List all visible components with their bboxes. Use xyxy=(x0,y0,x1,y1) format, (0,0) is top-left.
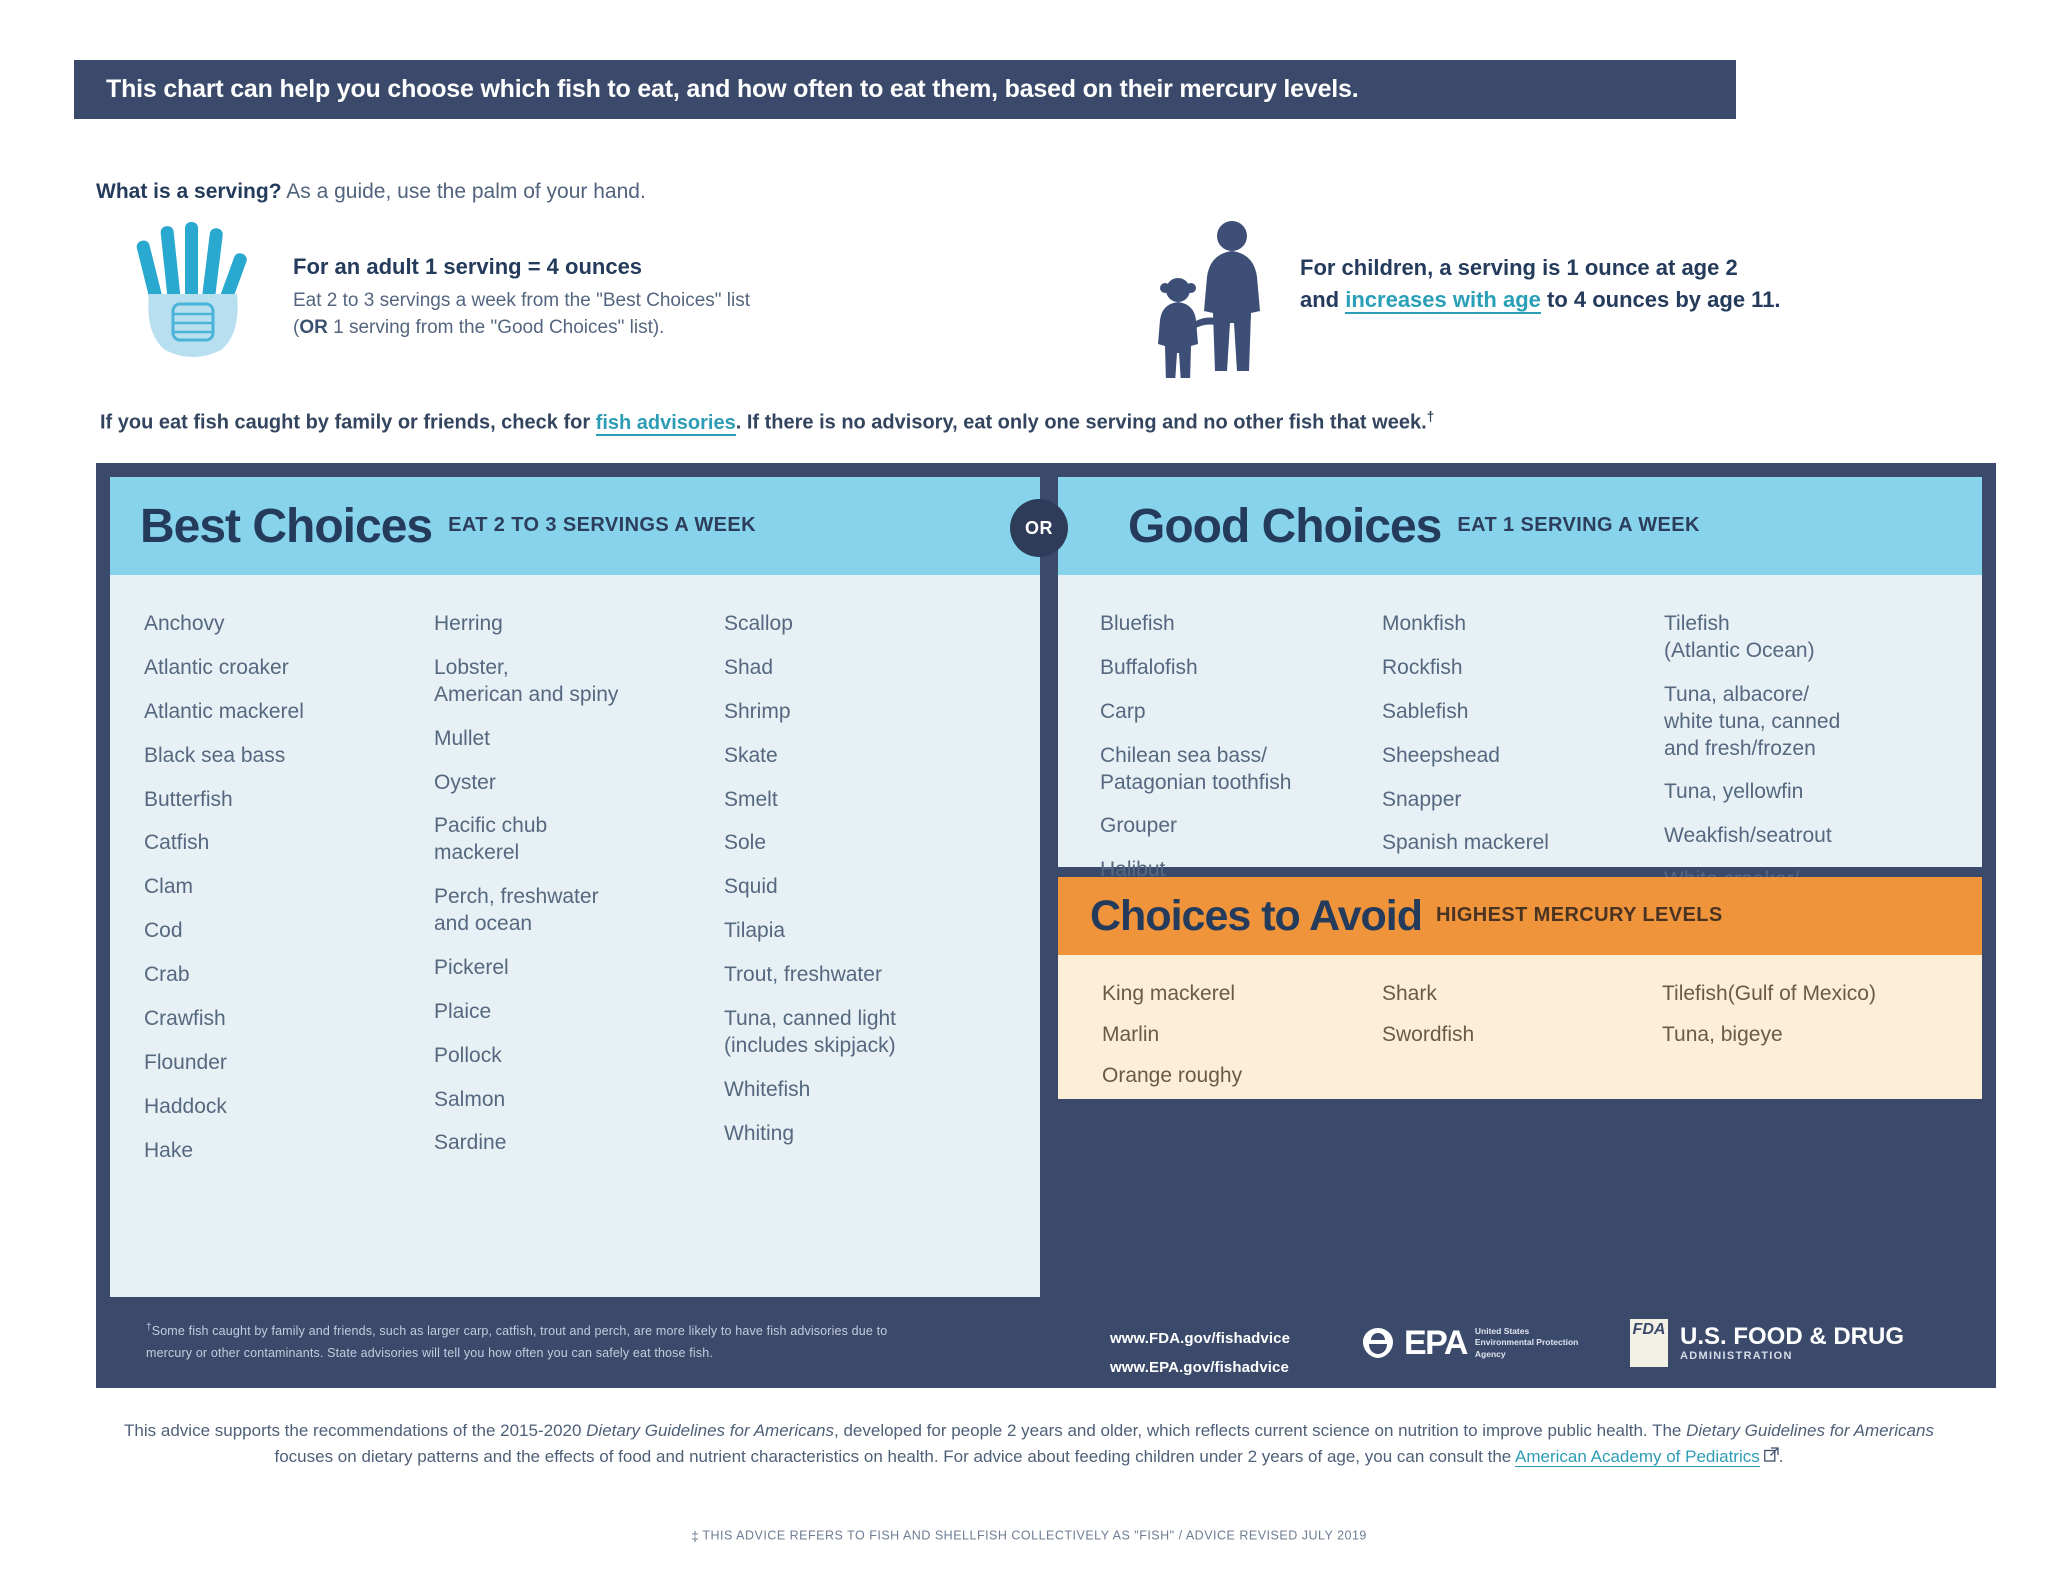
list-item: Oyster xyxy=(434,770,724,797)
footer-part-3: focuses on dietary patterns and the effe… xyxy=(275,1447,1516,1466)
best-choices-column-1: Anchovy Atlantic croaker Atlantic macker… xyxy=(144,611,434,1181)
list-item: Atlantic mackerel xyxy=(144,699,434,726)
choices-to-avoid-subtitle: HIGHEST MERCURY LEVELS xyxy=(1436,904,1723,929)
list-item: Squid xyxy=(724,874,1014,901)
list-item: King mackerel xyxy=(1102,981,1382,1008)
list-item: Trout, freshwater xyxy=(724,962,1014,989)
list-item: Lobster,American and spiny xyxy=(434,655,724,709)
list-item: Catfish xyxy=(144,830,434,857)
hand-palm-icon xyxy=(135,222,255,362)
list-item: Tilefish(Atlantic Ocean) xyxy=(1664,611,1946,665)
epa-url-link[interactable]: www.EPA.gov/fishadvice xyxy=(1110,1354,1290,1383)
footer-paragraph: This advice supports the recommendations… xyxy=(104,1418,1954,1471)
external-link-icon xyxy=(1764,1444,1779,1470)
best-choices-columns: Anchovy Atlantic croaker Atlantic macker… xyxy=(110,575,1040,1181)
choices-to-avoid-header: Choices to Avoid HIGHEST MERCURY LEVELS xyxy=(1058,877,1982,955)
list-item: Weakfish/seatrout xyxy=(1664,823,1946,850)
epa-agency-name: United States Environmental Protection A… xyxy=(1475,1326,1578,1360)
list-item: Atlantic croaker xyxy=(144,655,434,682)
list-item: Whitefish xyxy=(724,1077,1014,1104)
fish-advice-infographic: This chart can help you choose which fis… xyxy=(0,0,2048,1583)
advisory-prefix: If you eat fish caught by family or frie… xyxy=(100,412,596,434)
advisory-dagger: † xyxy=(1427,408,1435,424)
best-choices-header: Best Choices EAT 2 TO 3 SERVINGS A WEEK xyxy=(110,477,1040,575)
list-item: Marlin xyxy=(1102,1022,1382,1049)
list-item: Skate xyxy=(724,743,1014,770)
list-item: Spanish mackerel xyxy=(1382,830,1664,857)
or-badge-label: OR xyxy=(1025,518,1053,539)
list-item: Tuna, bigeye xyxy=(1662,1022,1942,1049)
fish-advisories-link[interactable]: fish advisories xyxy=(596,412,736,436)
epa-line-1: United States xyxy=(1475,1326,1578,1337)
choices-to-avoid-columns: King mackerel Marlin Orange roughy Shark… xyxy=(1058,955,1982,1104)
footer-italic-2: Dietary Guidelines for Americans xyxy=(1686,1421,1934,1440)
advisory-suffix: . If there is no advisory, eat only one … xyxy=(736,412,1427,434)
list-item: Pollock xyxy=(434,1043,724,1070)
list-item: Shrimp xyxy=(724,699,1014,726)
fda-logo: FDA U.S. FOOD & DRUG ADMINISTRATION xyxy=(1630,1319,1904,1367)
fda-wordmark: U.S. FOOD & DRUG ADMINISTRATION xyxy=(1680,1324,1904,1362)
advisory-note: If you eat fish caught by family or frie… xyxy=(100,408,1434,435)
list-item: Tuna, albacore/white tuna, cannedand fre… xyxy=(1664,682,1946,763)
good-choices-ref: 1 serving from the "Good Choices" list). xyxy=(328,317,665,338)
list-item: Cod xyxy=(144,918,434,945)
best-choices-panel: Best Choices EAT 2 TO 3 SERVINGS A WEEK … xyxy=(110,477,1040,1297)
footnote-text: Some fish caught by family and friends, … xyxy=(146,1324,887,1360)
footer-italic-1: Dietary Guidelines for Americans xyxy=(586,1421,834,1440)
list-item: Smelt xyxy=(724,787,1014,814)
epa-seal-icon xyxy=(1360,1325,1396,1361)
list-item: Shad xyxy=(724,655,1014,682)
epa-line-3: Agency xyxy=(1475,1349,1578,1360)
list-item: Grouper xyxy=(1100,813,1382,840)
avoid-column-1: King mackerel Marlin Orange roughy xyxy=(1102,981,1382,1104)
footer-part-1: This advice supports the recommendations… xyxy=(124,1421,586,1440)
adult-serving-detail: Eat 2 to 3 servings a week from the "Bes… xyxy=(293,288,750,342)
list-item: Salmon xyxy=(434,1087,724,1114)
avoid-column-3: Tilefish(Gulf of Mexico) Tuna, bigeye xyxy=(1662,981,1942,1104)
list-item: Orange roughy xyxy=(1102,1063,1382,1090)
epa-line-2: Environmental Protection xyxy=(1475,1337,1578,1348)
list-item: Swordfish xyxy=(1382,1022,1662,1049)
adult-serving-line2: (OR 1 serving from the "Good Choices" li… xyxy=(293,315,750,342)
list-item: Buffalofish xyxy=(1100,655,1382,682)
list-item: Tuna, canned light(includes skipjack) xyxy=(724,1006,1014,1060)
fda-seal-icon: FDA xyxy=(1630,1319,1668,1367)
best-choices-title: Best Choices xyxy=(140,499,432,554)
epa-wordmark: EPA xyxy=(1404,1326,1467,1360)
list-item: Rockfish xyxy=(1382,655,1664,682)
list-item: Pacific chubmackerel xyxy=(434,813,724,867)
list-item: Flounder xyxy=(144,1050,434,1077)
good-choices-title: Good Choices xyxy=(1128,499,1441,554)
list-item: Herring xyxy=(434,611,724,638)
good-choices-header: Good Choices EAT 1 SERVING A WEEK xyxy=(1058,477,1982,575)
child-serving-block: For children, a serving is 1 ounce at ag… xyxy=(1300,252,1781,316)
list-item: Tilapia xyxy=(724,918,1014,945)
footer-period: . xyxy=(1779,1447,1784,1466)
best-choices-column-3: Scallop Shad Shrimp Skate Smelt Sole Squ… xyxy=(724,611,1014,1181)
list-item: Haddock xyxy=(144,1094,434,1121)
list-item: Mullet xyxy=(434,726,724,753)
child-line2-prefix: and xyxy=(1300,287,1345,312)
list-item: Whiting xyxy=(724,1121,1014,1148)
list-item: Butterfish xyxy=(144,787,434,814)
american-academy-pediatrics-link[interactable]: American Academy of Pediatrics xyxy=(1515,1447,1760,1467)
card-footnote: †Some fish caught by family and friends,… xyxy=(146,1319,906,1364)
list-item: Plaice xyxy=(434,999,724,1026)
list-item: Sheepshead xyxy=(1382,743,1664,770)
list-item: Black sea bass xyxy=(144,743,434,770)
epa-logo: EPA United States Environmental Protecti… xyxy=(1360,1325,1578,1361)
list-item: Crab xyxy=(144,962,434,989)
best-choices-subtitle: EAT 2 TO 3 SERVINGS A WEEK xyxy=(448,514,756,539)
best-choices-column-2: Herring Lobster,American and spiny Mulle… xyxy=(434,611,724,1181)
list-item: Hake xyxy=(144,1138,434,1165)
list-item: Sablefish xyxy=(1382,699,1664,726)
list-item: Scallop xyxy=(724,611,1014,638)
child-serving-line1: For children, a serving is 1 ounce at ag… xyxy=(1300,252,1781,284)
list-item: Bluefish xyxy=(1100,611,1382,638)
adult-serving-line1: Eat 2 to 3 servings a week from the "Bes… xyxy=(293,288,750,315)
adult-serving-title: For an adult 1 serving = 4 ounces xyxy=(293,254,750,280)
list-item: Shark xyxy=(1382,981,1662,1008)
list-item: Anchovy xyxy=(144,611,434,638)
fda-line-2: ADMINISTRATION xyxy=(1680,1350,1904,1362)
list-item: Monkfish xyxy=(1382,611,1664,638)
footer-revision-text: THIS ADVICE REFERS TO FISH AND SHELLFISH… xyxy=(702,1528,1367,1542)
fda-line-1: U.S. FOOD & DRUG xyxy=(1680,1324,1904,1350)
list-item: Crawfish xyxy=(144,1006,434,1033)
double-dagger-icon: ‡ xyxy=(691,1528,699,1544)
top-banner: This chart can help you choose which fis… xyxy=(74,60,1736,119)
child-serving-line2: and increases with age to 4 ounces by ag… xyxy=(1300,284,1781,316)
list-item: Tilefish(Gulf of Mexico) xyxy=(1662,981,1942,1008)
top-banner-text: This chart can help you choose which fis… xyxy=(106,75,1358,104)
footer-revision-note: ‡THIS ADVICE REFERS TO FISH AND SHELLFIS… xyxy=(104,1528,1954,1544)
choices-to-avoid-title: Choices to Avoid xyxy=(1090,892,1422,941)
choices-to-avoid-panel: Choices to Avoid HIGHEST MERCURY LEVELS … xyxy=(1058,877,1982,1099)
list-item: Sardine xyxy=(434,1130,724,1157)
good-choices-subtitle: EAT 1 SERVING A WEEK xyxy=(1457,514,1699,539)
increases-with-age-link[interactable]: increases with age xyxy=(1345,287,1541,314)
serving-question-label: What is a serving? xyxy=(96,180,282,203)
avoid-column-2: Shark Swordfish xyxy=(1382,981,1662,1104)
or-badge: OR xyxy=(1010,499,1068,557)
good-choices-panel: Good Choices EAT 1 SERVING A WEEK Bluefi… xyxy=(1058,477,1982,867)
child-line2-suffix: to 4 ounces by age 11. xyxy=(1541,287,1781,312)
serving-question-line: What is a serving? As a guide, use the p… xyxy=(96,180,646,204)
list-item: Perch, freshwaterand ocean xyxy=(434,884,724,938)
or-emphasis: OR xyxy=(299,317,328,338)
footer-part-2: , developed for people 2 years and older… xyxy=(834,1421,1686,1440)
list-item: Clam xyxy=(144,874,434,901)
adult-serving-block: For an adult 1 serving = 4 ounces Eat 2 … xyxy=(293,254,750,342)
serving-guide-text: As a guide, use the palm of your hand. xyxy=(286,180,646,203)
list-item: Snapper xyxy=(1382,787,1664,814)
list-item: Sole xyxy=(724,830,1014,857)
choices-card: Best Choices EAT 2 TO 3 SERVINGS A WEEK … xyxy=(96,463,1996,1388)
list-item: Tuna, yellowfin xyxy=(1664,779,1946,806)
list-item: Chilean sea bass/Patagonian toothfish xyxy=(1100,743,1382,797)
family-silhouette-icon xyxy=(1140,218,1285,378)
list-item: Carp xyxy=(1100,699,1382,726)
agency-urls: www.FDA.gov/fishadvice www.EPA.gov/fisha… xyxy=(1110,1325,1290,1382)
fda-url-link[interactable]: www.FDA.gov/fishadvice xyxy=(1110,1325,1290,1354)
list-item: Pickerel xyxy=(434,955,724,982)
